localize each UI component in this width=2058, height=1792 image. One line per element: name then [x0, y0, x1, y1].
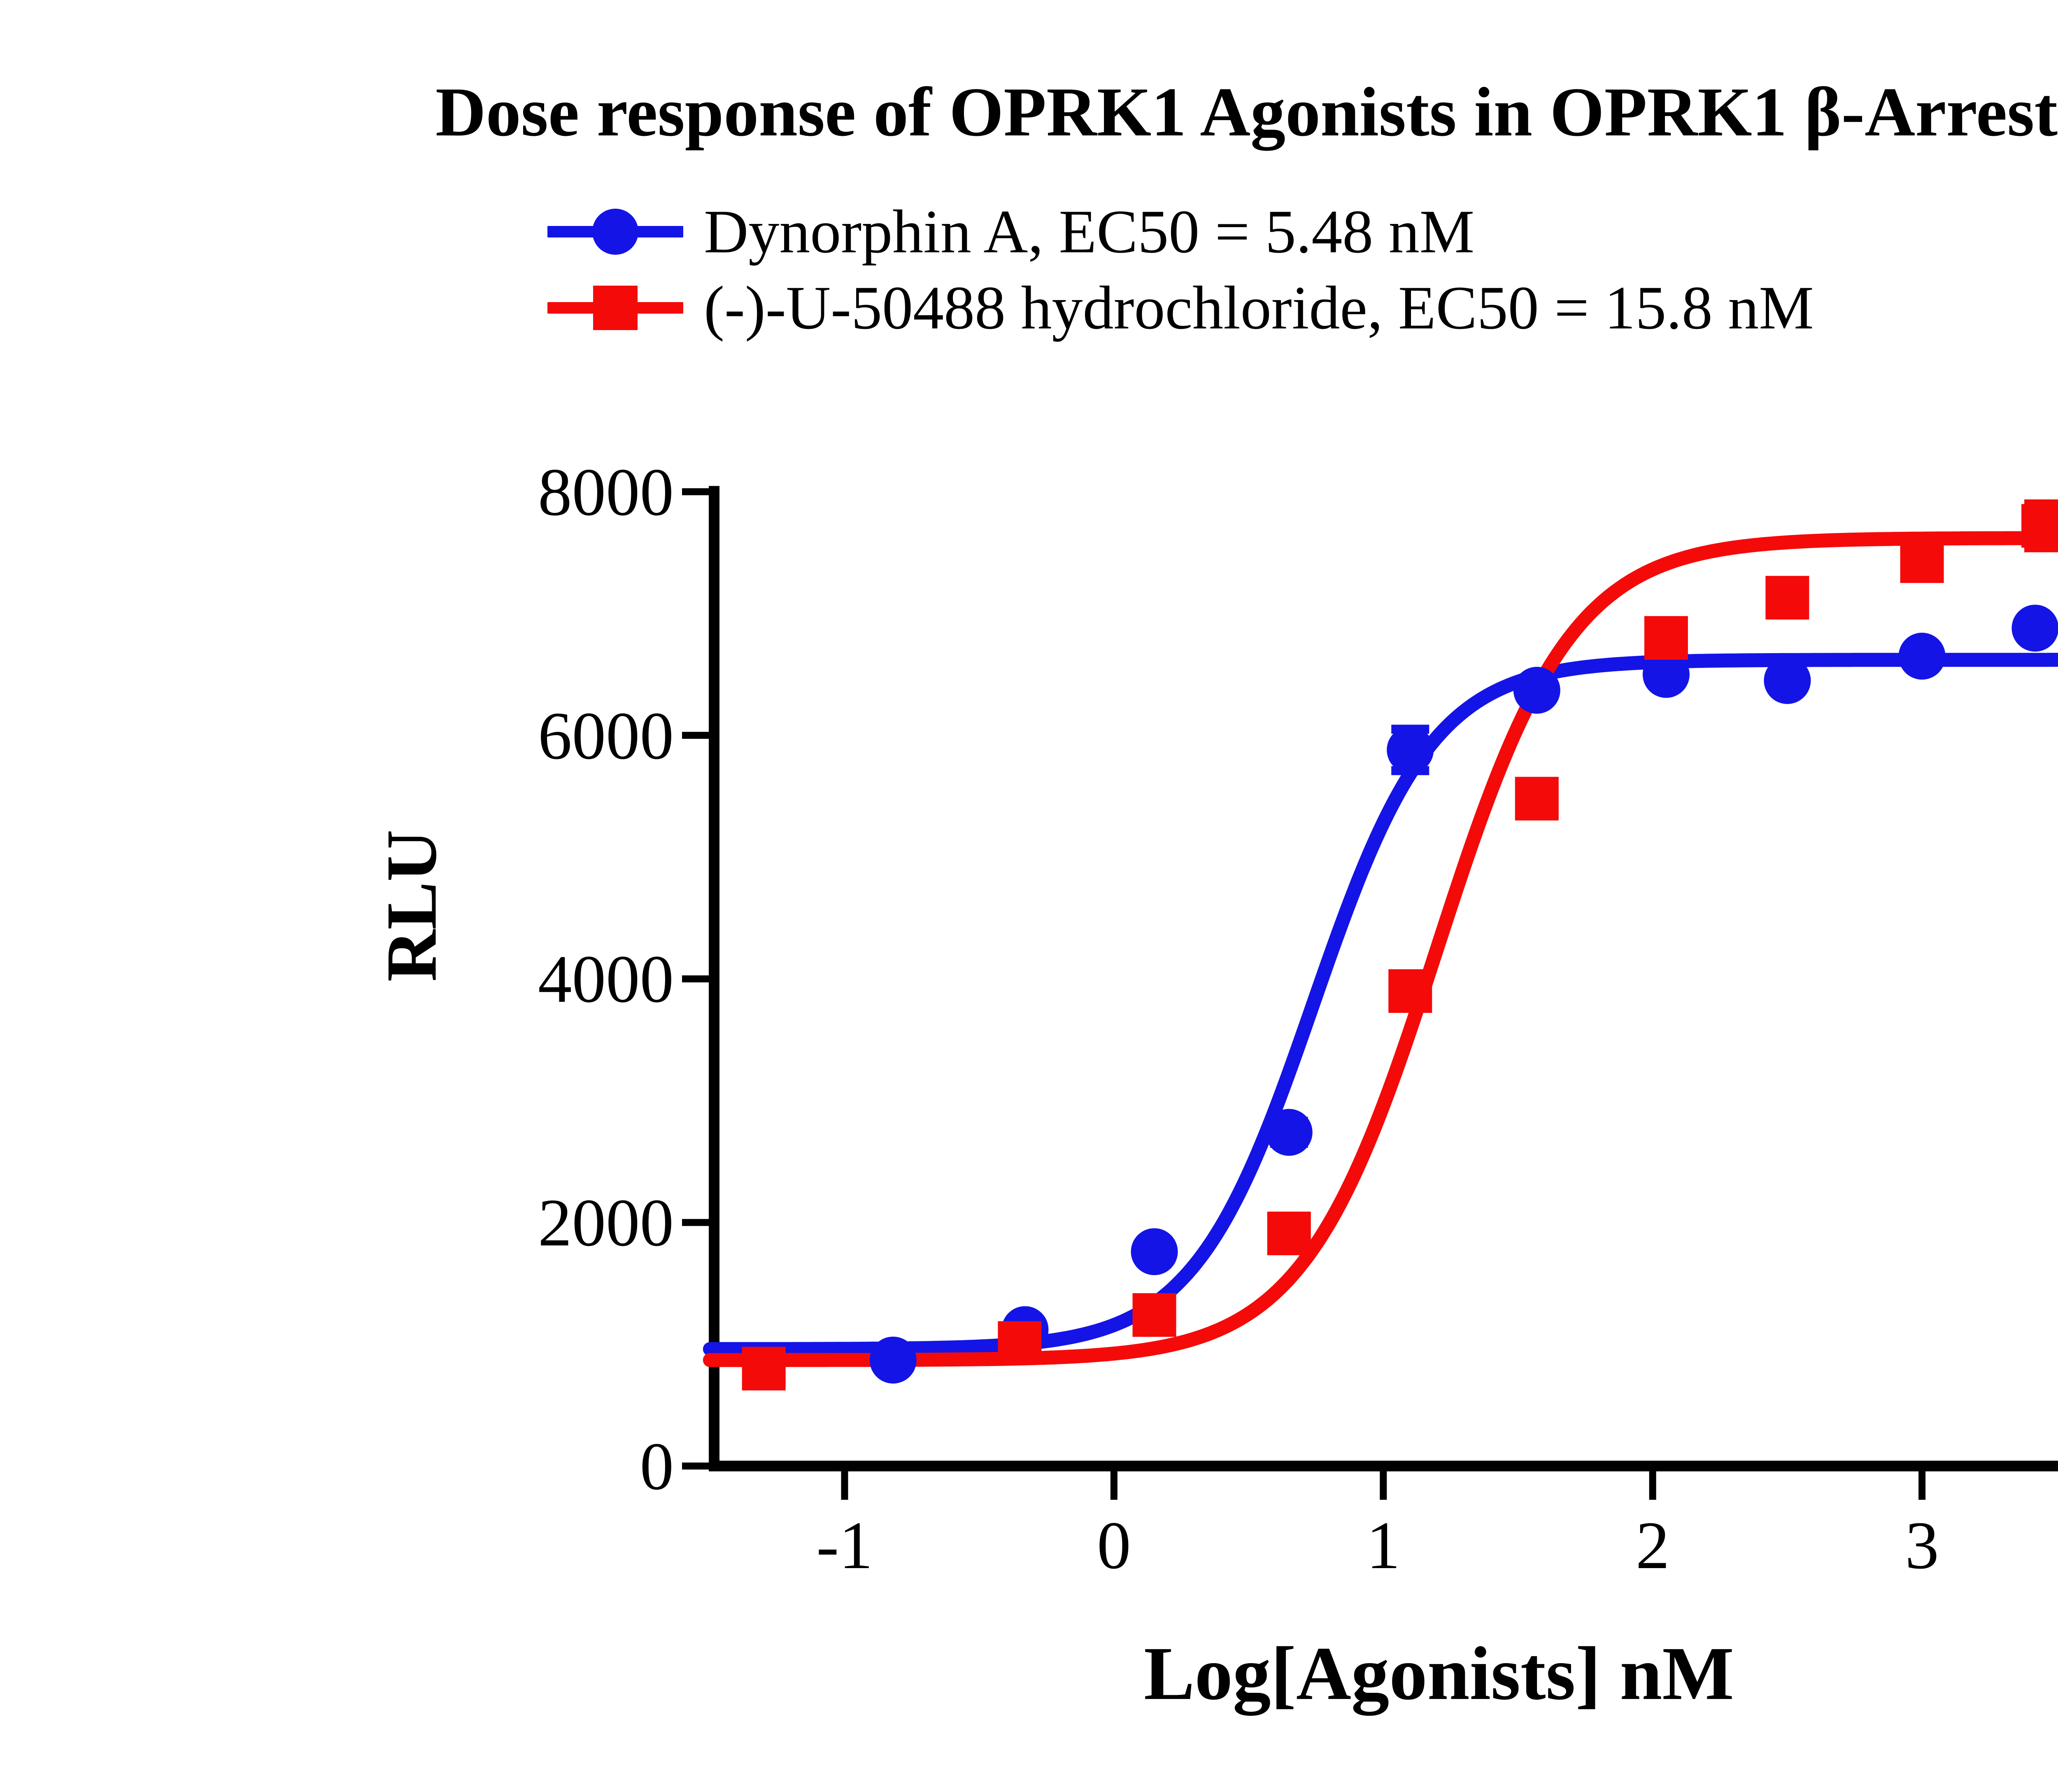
data-point-dynorphin-a — [1387, 726, 1434, 773]
data-point-dynorphin-a — [2011, 605, 2058, 652]
x-tick-label: 1 — [1322, 1511, 1445, 1579]
x-tick-label: 0 — [1052, 1511, 1176, 1579]
y-tick-label: 8000 — [443, 458, 674, 526]
y-tick-label: 0 — [443, 1432, 674, 1500]
y-tick-label: 6000 — [443, 702, 674, 770]
x-tick-label: 2 — [1591, 1511, 1714, 1579]
chart-page: Dose response of OPRK1 Agonists in OPRK1… — [0, 0, 2058, 1792]
data-point-u50488 — [1515, 777, 1559, 820]
data-point-u50488 — [1133, 1293, 1176, 1337]
data-point-u50488 — [1388, 969, 1432, 1013]
data-point-dynorphin-a — [1513, 667, 1560, 714]
data-point-u50488 — [1644, 616, 1688, 660]
y-axis-title: RLU — [370, 830, 453, 982]
data-point-u50488 — [1765, 576, 1809, 619]
x-axis-title: Log[Agonists] nM — [0, 1630, 2058, 1718]
data-point-dynorphin-a — [1266, 1109, 1313, 1156]
fit-curve-dynorphin-a — [710, 660, 2058, 1349]
data-point-u50488 — [1900, 539, 1944, 583]
data-point-u50488 — [998, 1321, 1041, 1365]
data-point-dynorphin-a — [1899, 633, 1946, 680]
data-point-u50488 — [2021, 504, 2058, 548]
data-point-dynorphin-a — [870, 1337, 917, 1384]
chart-canvas — [0, 0, 2058, 1792]
x-tick-label: 3 — [1860, 1511, 1984, 1579]
data-point-dynorphin-a — [1131, 1228, 1178, 1275]
data-point-dynorphin-a — [1764, 657, 1811, 704]
x-tick-label: -1 — [783, 1511, 906, 1579]
plot-area: RLU Log[Agonists] nM 02000400060008000 -… — [0, 0, 2058, 1792]
data-point-u50488 — [1267, 1212, 1311, 1255]
y-tick-label: 2000 — [443, 1189, 674, 1257]
data-point-u50488 — [742, 1347, 786, 1390]
y-tick-label: 4000 — [443, 945, 674, 1013]
